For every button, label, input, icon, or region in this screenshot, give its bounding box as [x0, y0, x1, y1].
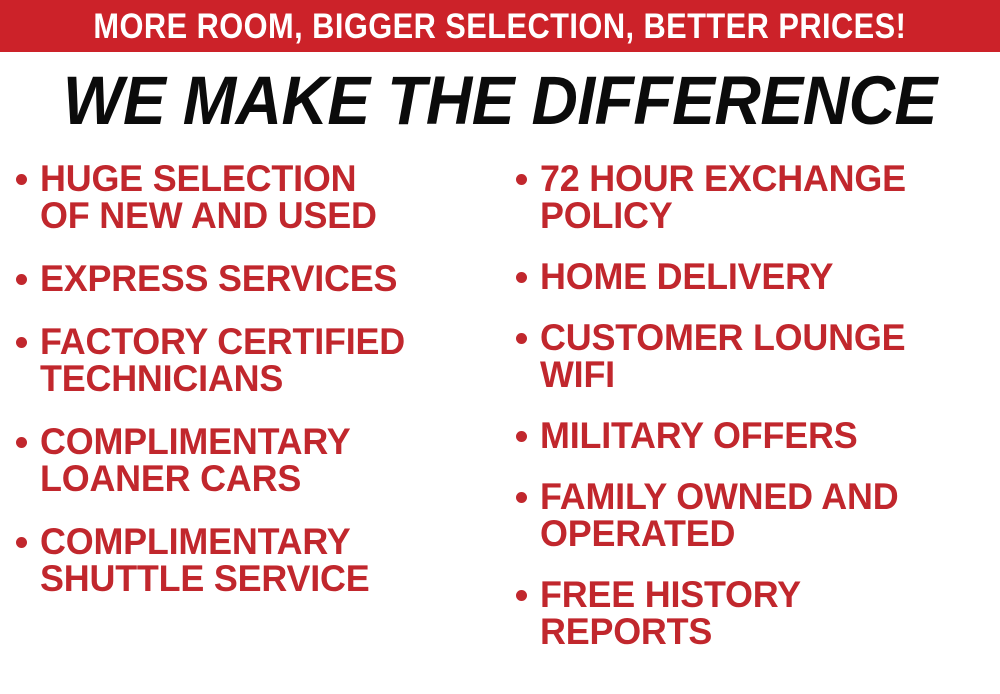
feature-left-label-4: COMPLIMENTARYSHUTTLE SERVICE: [40, 523, 369, 597]
feature-right-label-1: HOME DELIVERY: [540, 258, 833, 295]
list-item: HOME DELIVERY: [516, 258, 986, 295]
bullet-line-1: 72 HOUR EXCHANGE: [540, 158, 906, 199]
list-item: 72 HOUR EXCHANGEPOLICY: [516, 160, 986, 234]
bullet-dot-icon: [16, 274, 27, 285]
list-item: COMPLIMENTARYLOANER CARS: [16, 423, 494, 497]
bullet-line-2: POLICY: [540, 197, 906, 234]
feature-columns: HUGE SELECTIONOF NEW AND USEDEXPRESS SER…: [0, 160, 1000, 694]
bullet-dot-icon: [516, 492, 527, 503]
bullet-line-1: HOME DELIVERY: [540, 256, 833, 297]
bullet-line-2: LOANER CARS: [40, 460, 351, 497]
bullet-dot-icon: [516, 272, 527, 283]
feature-column-right: 72 HOUR EXCHANGEPOLICYHOME DELIVERYCUSTO…: [516, 160, 986, 674]
bullet-line-1: COMPLIMENTARY: [40, 421, 351, 462]
list-item: FREE HISTORYREPORTS: [516, 576, 986, 650]
headline: WE MAKE THE DIFFERENCE: [0, 66, 1000, 135]
bullet-line-2: SHUTTLE SERVICE: [40, 560, 369, 597]
feature-right-label-2: CUSTOMER LOUNGEWIFI: [540, 319, 905, 393]
feature-left-label-0: HUGE SELECTIONOF NEW AND USED: [40, 160, 377, 234]
feature-left-label-2: FACTORY CERTIFIEDTECHNICIANS: [40, 323, 405, 397]
bullet-line-1: FAMILY OWNED AND: [540, 476, 898, 517]
feature-left-label-3: COMPLIMENTARYLOANER CARS: [40, 423, 351, 497]
feature-left-label-1: EXPRESS SERVICES: [40, 260, 397, 297]
feature-right-label-4: FAMILY OWNED ANDOPERATED: [540, 478, 898, 552]
list-item: COMPLIMENTARYSHUTTLE SERVICE: [16, 523, 494, 597]
bullet-dot-icon: [16, 437, 27, 448]
bullet-dot-icon: [16, 174, 27, 185]
bullet-line-2: OF NEW AND USED: [40, 197, 377, 234]
bullet-line-1: HUGE SELECTION: [40, 158, 356, 199]
top-promo-banner-text: MORE ROOM, BIGGER SELECTION, BETTER PRIC…: [94, 9, 907, 44]
list-item: CUSTOMER LOUNGEWIFI: [516, 319, 986, 393]
bullet-dot-icon: [516, 333, 527, 344]
bullet-dot-icon: [16, 337, 27, 348]
bullet-dot-icon: [516, 590, 527, 601]
bullet-line-2: REPORTS: [540, 613, 801, 650]
list-item: FACTORY CERTIFIEDTECHNICIANS: [16, 323, 494, 397]
bullet-dot-icon: [516, 431, 527, 442]
feature-right-label-3: MILITARY OFFERS: [540, 417, 857, 454]
bullet-line-2: OPERATED: [540, 515, 898, 552]
bullet-dot-icon: [16, 537, 27, 548]
feature-column-left: HUGE SELECTIONOF NEW AND USEDEXPRESS SER…: [16, 160, 494, 623]
bullet-line-1: FREE HISTORY: [540, 574, 801, 615]
list-item: FAMILY OWNED ANDOPERATED: [516, 478, 986, 552]
bullet-line-2: WIFI: [540, 356, 905, 393]
feature-right-label-0: 72 HOUR EXCHANGEPOLICY: [540, 160, 906, 234]
headline-text: WE MAKE THE DIFFERENCE: [63, 66, 937, 135]
bullet-line-1: EXPRESS SERVICES: [40, 258, 397, 299]
bullet-line-1: MILITARY OFFERS: [540, 415, 857, 456]
top-promo-banner: MORE ROOM, BIGGER SELECTION, BETTER PRIC…: [0, 0, 1000, 52]
list-item: MILITARY OFFERS: [516, 417, 986, 454]
list-item: HUGE SELECTIONOF NEW AND USED: [16, 160, 494, 234]
list-item: EXPRESS SERVICES: [16, 260, 494, 297]
bullet-line-1: FACTORY CERTIFIED: [40, 321, 405, 362]
feature-right-label-5: FREE HISTORYREPORTS: [540, 576, 801, 650]
bullet-line-1: CUSTOMER LOUNGE: [540, 317, 905, 358]
bullet-line-1: COMPLIMENTARY: [40, 521, 351, 562]
bullet-line-2: TECHNICIANS: [40, 360, 405, 397]
advertisement-banner: MORE ROOM, BIGGER SELECTION, BETTER PRIC…: [0, 0, 1000, 694]
bullet-dot-icon: [516, 174, 527, 185]
